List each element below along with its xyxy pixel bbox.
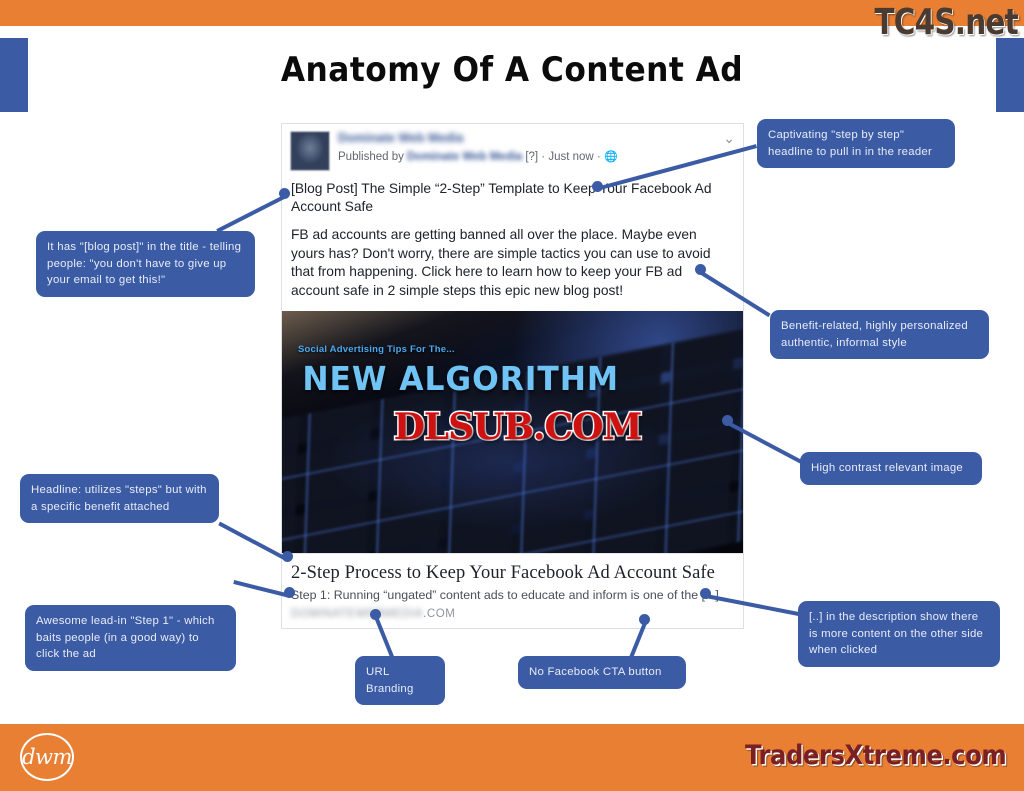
page-title: Anatomy Of A Content Ad [41, 50, 983, 90]
top-orange-bar [0, 0, 1024, 26]
callout-url-branding[interactable]: URL Branding [355, 656, 445, 705]
link-preview-caption[interactable]: 2-Step Process to Keep Your Facebook Ad … [282, 553, 743, 626]
page-name[interactable]: Dominate Web Media [338, 132, 488, 145]
post-header-text: Dominate Web Media Published by Dominate… [330, 131, 719, 163]
callout-no-cta-button[interactable]: No Facebook CTA button [518, 656, 686, 689]
connector-dot-ellipsis [700, 588, 711, 599]
post-body-text: FB ad accounts are getting banned all ov… [282, 216, 743, 311]
dwm-logo: dwm [20, 733, 74, 781]
published-by-name[interactable]: Dominate Web Media [407, 151, 522, 163]
tc4s-brand-logo: TC4S.net [875, 2, 1018, 43]
meta-sep-2: · [594, 151, 604, 163]
connector-dot-captivating [592, 181, 603, 192]
bracket-flag: [?] [525, 151, 538, 163]
published-by-label: Published by [338, 151, 404, 163]
callout-blog-post-title[interactable]: It has "[blog post]" in the title - tell… [36, 231, 255, 297]
chevron-down-icon[interactable]: ⌄ [719, 131, 735, 143]
connector-dot-url-branding [370, 609, 381, 620]
link-title[interactable]: 2-Step Process to Keep Your Facebook Ad … [291, 562, 734, 584]
link-description: Step 1: Running “ungated” content ads to… [291, 587, 734, 603]
connector-dot-benefit [695, 264, 706, 275]
post-header: Dominate Web Media Published by Dominate… [282, 124, 743, 171]
connector-blogpost [216, 195, 285, 233]
callout-benefit-related[interactable]: Benefit-related, highly personalized aut… [770, 310, 989, 359]
link-domain-blurred: DOMINATEWEBMEDIA [291, 608, 423, 620]
post-headline: [Blog Post] The Simple “2-Step” Template… [282, 171, 743, 216]
avatar [290, 131, 330, 171]
tradersxtreme-brand: TradersXtreme.com [745, 740, 1006, 771]
globe-icon[interactable]: 🌐 [604, 150, 618, 163]
meta-sep-1: · [538, 151, 548, 163]
left-blue-block [0, 38, 28, 112]
watermark-dlsub: DLSUB.COM [394, 406, 642, 448]
infographic-page: TC4S.net Anatomy Of A Content Ad Dominat… [0, 0, 1024, 791]
post-timestamp[interactable]: Just now [548, 151, 593, 163]
connector-headline-steps [218, 522, 289, 562]
callout-headline-steps[interactable]: Headline: utilizes "steps" but with a sp… [20, 474, 219, 523]
link-domain-suffix: .COM [423, 608, 455, 620]
image-kicker-text: Social Advertising Tips For The... [298, 344, 455, 355]
connector-dot-image [722, 415, 733, 426]
facebook-post-card: Dominate Web Media Published by Dominate… [281, 123, 744, 629]
callout-ellipsis-description[interactable]: [..] in the description show there is mo… [798, 601, 1000, 667]
link-url: DOMINATEWEBMEDIA .COM [291, 608, 734, 620]
callout-awesome-lead-in[interactable]: Awesome lead-in "Step 1" - which baits p… [25, 605, 236, 671]
connector-dot-headline-steps [282, 551, 293, 562]
right-blue-block [996, 38, 1024, 112]
callout-high-contrast-image[interactable]: High contrast relevant image [800, 452, 982, 485]
post-meta: Published by Dominate Web Media [?] · Ju… [338, 150, 719, 163]
link-preview-image[interactable]: Social Advertising Tips For The... NEW A… [282, 311, 743, 553]
connector-dot-leadin [284, 587, 295, 598]
connector-dot-blogpost [279, 188, 290, 199]
connector-dot-no-cta [639, 614, 650, 625]
image-headline-text: NEW ALGORITHM [302, 359, 619, 398]
callout-captivating-headline[interactable]: Captivating "step by step" headline to p… [757, 119, 955, 168]
